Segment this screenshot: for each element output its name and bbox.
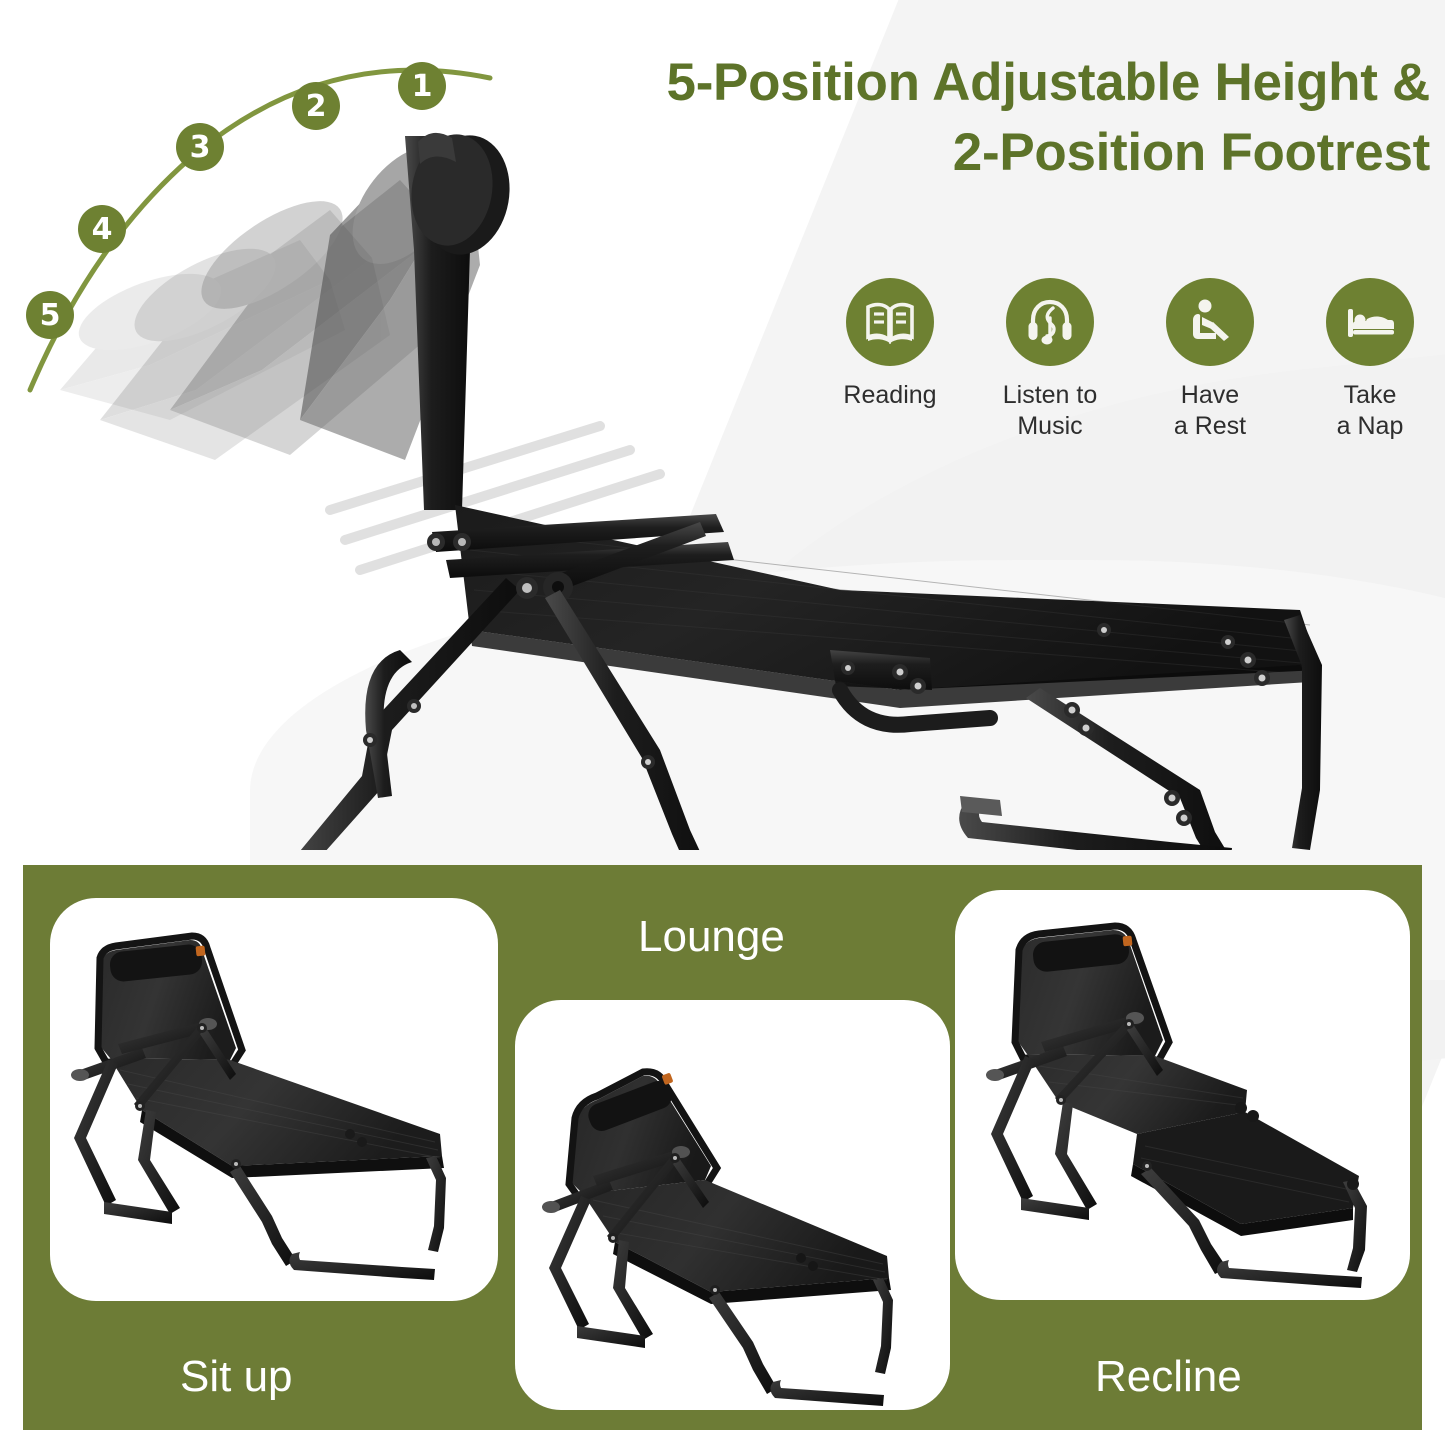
page-title-line-1: 5-Position Adjustable Height &: [667, 53, 1430, 112]
feature-rest-label: Have a Rest: [1174, 380, 1246, 441]
feature-icon-row: Reading Listen to Music: [820, 278, 1440, 441]
position-badge-3[interactable]: 3: [176, 123, 224, 171]
person-reclining-seat-icon: [1166, 278, 1254, 366]
feature-listen-to-music: Listen to Music: [980, 278, 1120, 441]
feature-take-a-nap: Take a Nap: [1300, 278, 1440, 441]
positions-panel: [23, 865, 1422, 1430]
feature-nap-label-line-2: a Nap: [1337, 412, 1404, 440]
headphones-music-icon: [1006, 278, 1094, 366]
feature-nap-label-line-1: Take: [1344, 381, 1397, 409]
feature-music-label-line-1: Listen to: [1003, 381, 1098, 409]
page-title-line-2: 2-Position Footrest: [560, 118, 1430, 188]
lounge-card[interactable]: [515, 1000, 950, 1410]
sit-up-card[interactable]: [50, 898, 498, 1301]
feature-music-label: Listen to Music: [1003, 380, 1098, 441]
position-badge-5[interactable]: 5: [26, 291, 74, 339]
infographic-canvas: 1 2 3 4 5 5-Position Adjustable Height &…: [0, 0, 1445, 1445]
feature-nap-label: Take a Nap: [1337, 380, 1404, 441]
feature-rest-label-line-2: a Rest: [1174, 412, 1246, 440]
position-badge-1[interactable]: 1: [398, 62, 446, 110]
position-badge-4[interactable]: 4: [78, 205, 126, 253]
feature-reading-label: Reading: [843, 380, 936, 411]
recline-card[interactable]: [955, 890, 1410, 1300]
open-book-icon: [846, 278, 934, 366]
feature-music-label-line-2: Music: [1017, 412, 1082, 440]
person-in-bed-icon: [1326, 278, 1414, 366]
feature-rest-label-line-1: Have: [1181, 381, 1239, 409]
position-arc: 1 2 3 4 5: [0, 40, 500, 410]
page-title: 5-Position Adjustable Height & 2-Positio…: [560, 48, 1430, 188]
feature-have-a-rest: Have a Rest: [1140, 278, 1280, 441]
feature-reading: Reading: [820, 278, 960, 411]
position-badge-2[interactable]: 2: [292, 82, 340, 130]
